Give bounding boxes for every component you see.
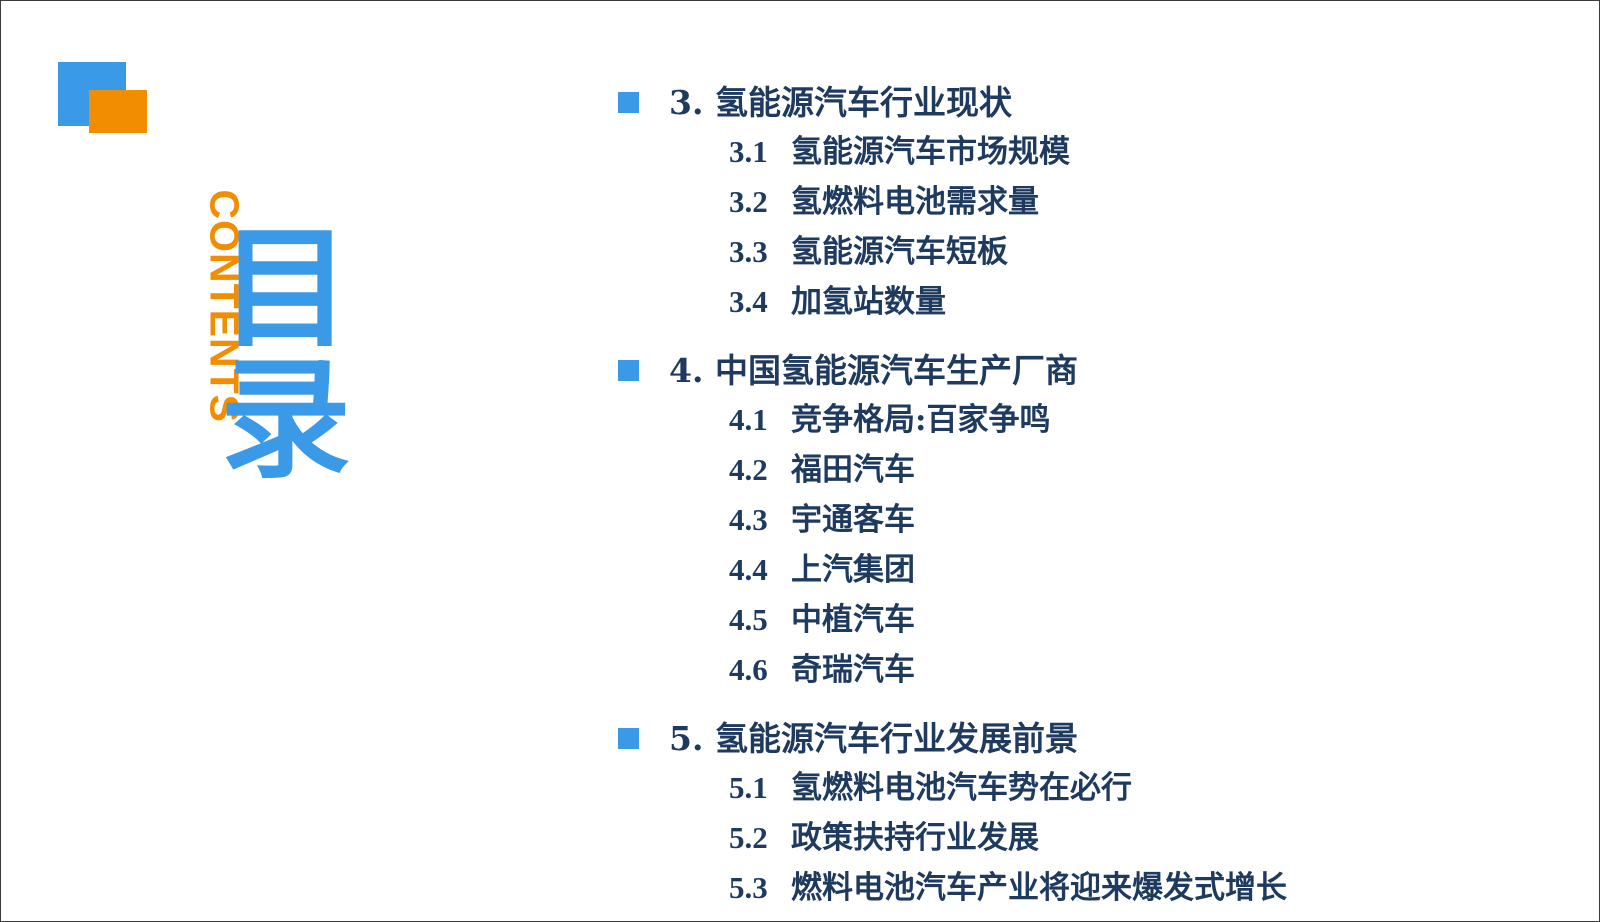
- toc-sub-item-label: 加氢站数量: [791, 284, 946, 320]
- toc-section-heading[interactable]: 5. 氢能源汽车行业发展前景: [601, 715, 1561, 763]
- square-bullet-icon: [618, 728, 639, 749]
- toc-sub-item[interactable]: 3.1氢能源汽车市场规模: [729, 127, 1561, 177]
- toc-sub-item-number: 4.1: [729, 395, 791, 444]
- toc-section-title: 5. 氢能源汽车行业发展前景: [669, 715, 1078, 763]
- toc-sub-item-number: 4.4: [729, 545, 791, 594]
- toc-sub-item-label: 福田汽车: [791, 452, 915, 488]
- toc-sub-item-number: 3.1: [729, 127, 791, 176]
- square-bullet-icon: [618, 92, 639, 113]
- toc-sub-list: 4.1竞争格局:百家争鸣4.2福田汽车4.3宇通客车4.4上汽集团4.5中植汽车…: [601, 395, 1561, 695]
- toc-sub-item-label: 氢能源汽车市场规模: [791, 134, 1070, 170]
- toc-sub-item-number: 3.4: [729, 277, 791, 326]
- toc-section-title: 4. 中国氢能源汽车生产厂商: [669, 347, 1078, 395]
- title-block: CONTENTS 目录: [131, 219, 371, 509]
- toc-sub-item-label: 中植汽车: [791, 602, 915, 638]
- toc-sub-item-label: 奇瑞汽车: [791, 652, 915, 688]
- toc-sub-item-number: 4.3: [729, 495, 791, 544]
- toc-sub-item-number: 5.1: [729, 763, 791, 812]
- toc-sub-item[interactable]: 5.3燃料电池汽车产业将迎来爆发式增长: [729, 863, 1561, 913]
- toc-section-title: 3. 氢能源汽车行业现状: [669, 79, 1012, 127]
- toc-section: 3. 氢能源汽车行业现状3.1氢能源汽车市场规模3.2氢燃料电池需求量3.3氢能…: [601, 79, 1561, 327]
- toc-sub-item[interactable]: 4.3宇通客车: [729, 495, 1561, 545]
- decorative-orange-square: [89, 90, 147, 133]
- toc-sub-item-number: 5.3: [729, 863, 791, 912]
- toc-section: 4. 中国氢能源汽车生产厂商4.1竞争格局:百家争鸣4.2福田汽车4.3宇通客车…: [601, 347, 1561, 695]
- toc-sub-item[interactable]: 4.5中植汽车: [729, 595, 1561, 645]
- toc-sub-item-label: 燃料电池汽车产业将迎来爆发式增长: [791, 870, 1287, 906]
- contents-cjk-title: 目录: [203, 219, 344, 509]
- toc-sub-item[interactable]: 4.6奇瑞汽车: [729, 645, 1561, 695]
- table-of-contents: 3. 氢能源汽车行业现状3.1氢能源汽车市场规模3.2氢燃料电池需求量3.3氢能…: [601, 79, 1561, 922]
- toc-sub-item-label: 上汽集团: [791, 552, 915, 588]
- toc-sub-item-label: 氢燃料电池汽车势在必行: [791, 770, 1132, 806]
- toc-sub-item-number: 5.2: [729, 813, 791, 862]
- toc-sub-item-number: 3.3: [729, 227, 791, 276]
- toc-section-heading[interactable]: 4. 中国氢能源汽车生产厂商: [601, 347, 1561, 395]
- toc-sub-item-number: 4.5: [729, 595, 791, 644]
- toc-sub-item-label: 竞争格局:百家争鸣: [791, 402, 1050, 438]
- slide-canvas: CONTENTS 目录 3. 氢能源汽车行业现状3.1氢能源汽车市场规模3.2氢…: [0, 0, 1600, 922]
- toc-sub-item[interactable]: 3.2氢燃料电池需求量: [729, 177, 1561, 227]
- toc-sub-item-label: 政策扶持行业发展: [791, 820, 1039, 856]
- toc-sub-item-number: 3.2: [729, 177, 791, 226]
- toc-sub-item-number: 4.2: [729, 445, 791, 494]
- toc-sub-item[interactable]: 3.4加氢站数量: [729, 277, 1561, 327]
- square-bullet-icon: [618, 360, 639, 381]
- toc-sub-item[interactable]: 4.1竞争格局:百家争鸣: [729, 395, 1561, 445]
- toc-section: 5. 氢能源汽车行业发展前景5.1氢燃料电池汽车势在必行5.2政策扶持行业发展5…: [601, 715, 1561, 913]
- toc-section-heading[interactable]: 3. 氢能源汽车行业现状: [601, 79, 1561, 127]
- toc-sub-item[interactable]: 3.3氢能源汽车短板: [729, 227, 1561, 277]
- toc-sub-item-label: 氢燃料电池需求量: [791, 184, 1039, 220]
- toc-sub-item[interactable]: 4.4上汽集团: [729, 545, 1561, 595]
- toc-sub-list: 5.1氢燃料电池汽车势在必行5.2政策扶持行业发展5.3燃料电池汽车产业将迎来爆…: [601, 763, 1561, 913]
- toc-sub-item[interactable]: 5.1氢燃料电池汽车势在必行: [729, 763, 1561, 813]
- toc-sub-list: 3.1氢能源汽车市场规模3.2氢燃料电池需求量3.3氢能源汽车短板3.4加氢站数…: [601, 127, 1561, 327]
- toc-sub-item-label: 氢能源汽车短板: [791, 234, 1008, 270]
- toc-sub-item-number: 4.6: [729, 645, 791, 694]
- toc-sub-item[interactable]: 5.2政策扶持行业发展: [729, 813, 1561, 863]
- toc-sub-item[interactable]: 4.2福田汽车: [729, 445, 1561, 495]
- toc-sub-item-label: 宇通客车: [791, 502, 915, 538]
